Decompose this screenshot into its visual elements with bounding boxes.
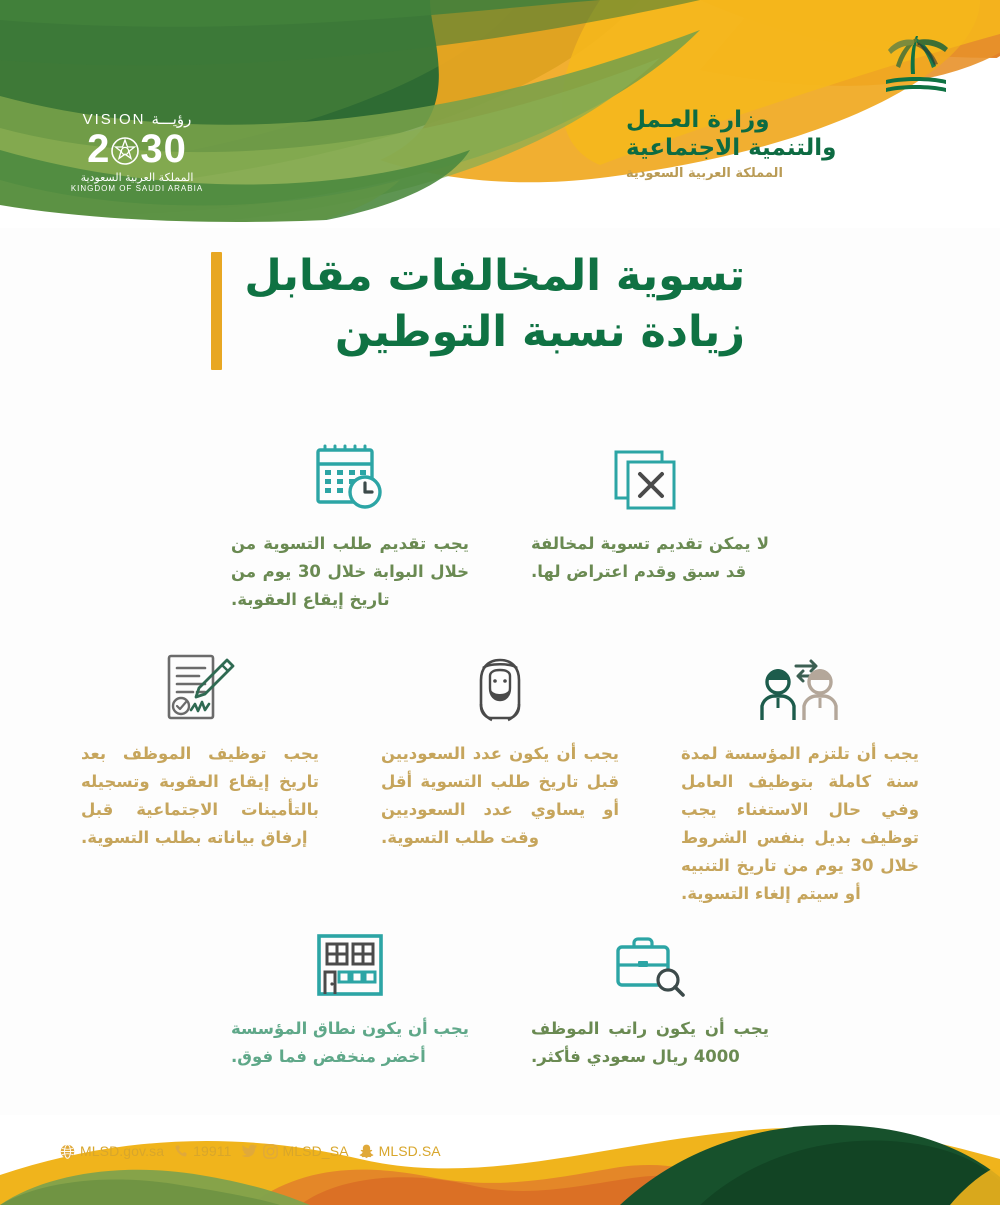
condition-item: يجب أن يكون نطاق المؤسسة أخضر منخفض فما …	[200, 925, 500, 1071]
footer-wave-graphic	[0, 1115, 1000, 1205]
vision-kingdom-en: KINGDOM OF SAUDI ARABIA	[62, 184, 212, 193]
condition-text: يجب أن تلتزم المؤسسة لمدة سنة كاملة بتوظ…	[681, 740, 919, 908]
condition-text: لا يمكن تقديم تسوية لمخالفة قد سبق وقدم …	[531, 530, 769, 586]
ministry-logo: وزارة العـمل والتنمية الاجتماعية المملكة…	[626, 28, 956, 184]
vision-year-left: 2	[87, 128, 110, 170]
condition-icon-wrap	[314, 925, 386, 997]
building-icon	[314, 933, 386, 997]
condition-text: يجب تقديم طلب التسوية من خلال البوابة خل…	[231, 530, 469, 614]
condition-text: يجب توظيف الموظف بعد تاريخ إيقاع العقوبة…	[81, 740, 319, 852]
contact-snapchat-label: MLSD.SA	[379, 1143, 441, 1159]
ministry-line-1: وزارة العـمل	[626, 106, 956, 134]
condition-item: يجب أن يكون راتب الموظف 4000 ريال سعودي …	[500, 925, 800, 1071]
condition-icon-wrap	[756, 650, 844, 722]
contact-phone-label: 19911	[193, 1143, 231, 1159]
condition-icon-wrap	[313, 440, 387, 512]
condition-text: يجب أن يكون نطاق المؤسسة أخضر منخفض فما …	[231, 1015, 469, 1071]
ministry-line-3: المملكة العربية السعودية	[626, 164, 956, 184]
twitter-icon	[242, 1144, 258, 1158]
condition-icon-wrap	[612, 925, 688, 997]
vision-word-en: VISION	[83, 111, 146, 128]
briefcase-search-icon	[612, 935, 688, 997]
condition-text: يجب أن يكون راتب الموظف 4000 ريال سعودي …	[531, 1015, 769, 1071]
page-title-line-2: زيادة نسبة التوطين	[244, 304, 745, 360]
condition-icon-wrap	[469, 650, 531, 722]
condition-item: يجب أن يكون عدد السعوديين قبل تاريخ طلب …	[350, 650, 650, 908]
page-title-line-1: تسوية المخالفات مقابل	[244, 248, 745, 304]
infographic-page: VISION رؤيـــة 2 30 المملكة العربية السع…	[0, 0, 1000, 1205]
condition-item: لا يمكن تقديم تسوية لمخالفة قد سبق وقدم …	[500, 440, 800, 614]
vision-year-right: 30	[140, 128, 187, 170]
vision-logo-top: VISION رؤيـــة	[62, 110, 212, 128]
contact-social-handles[interactable]: MLSD_SA	[242, 1143, 349, 1159]
phone-icon	[174, 1144, 188, 1158]
conditions-row-2: يجب أن تلتزم المؤسسة لمدة سنة كاملة بتوظ…	[0, 650, 1000, 908]
ministry-line-2: والتنمية الاجتماعية	[626, 134, 956, 162]
contact-snapchat[interactable]: MLSD.SA	[359, 1143, 441, 1159]
vision-word-ar: رؤيـــة	[151, 110, 191, 128]
title-accent-bar	[211, 252, 222, 370]
calendar-clock-icon	[313, 444, 387, 512]
saudi-man-icon	[469, 656, 531, 722]
condition-icon-wrap	[161, 650, 239, 722]
condition-item: يجب أن تلتزم المؤسسة لمدة سنة كاملة بتوظ…	[650, 650, 950, 908]
conditions-row-3: يجب أن يكون راتب الموظف 4000 ريال سعودي …	[0, 925, 1000, 1071]
contact-social-label: MLSD_SA	[283, 1143, 349, 1159]
condition-text: يجب أن يكون عدد السعوديين قبل تاريخ طلب …	[381, 740, 619, 852]
contact-website[interactable]: MLSD.gov.sa	[60, 1143, 164, 1159]
palm-swords-emblem-icon	[876, 28, 956, 100]
globe-icon	[60, 1144, 75, 1159]
page-title-text: تسوية المخالفات مقابل زيادة نسبة التوطين	[244, 248, 745, 370]
footer-contact-bar: MLSD.gov.sa 19911 MLSD_SA MLSD.SA	[60, 1143, 441, 1159]
saudi-emblem-icon	[110, 136, 140, 166]
header-banner: VISION رؤيـــة 2 30 المملكة العربية السع…	[0, 0, 1000, 228]
vision-2030-logo: VISION رؤيـــة 2 30 المملكة العربية السع…	[62, 110, 212, 193]
two-people-exchange-icon	[756, 656, 844, 722]
contact-website-label: MLSD.gov.sa	[80, 1143, 164, 1159]
vision-kingdom-ar: المملكة العربية السعودية	[62, 171, 212, 184]
condition-icon-wrap	[611, 440, 689, 512]
vision-year: 2 30	[62, 128, 212, 170]
condition-item: يجب تقديم طلب التسوية من خلال البوابة خل…	[200, 440, 500, 614]
contact-phone[interactable]: 19911	[174, 1143, 231, 1159]
instagram-icon	[263, 1144, 278, 1159]
conditions-row-1: لا يمكن تقديم تسوية لمخالفة قد سبق وقدم …	[0, 440, 1000, 614]
snapchat-icon	[359, 1144, 374, 1159]
page-title: تسوية المخالفات مقابل زيادة نسبة التوطين	[211, 248, 745, 370]
document-pen-icon	[161, 652, 239, 722]
condition-item: يجب توظيف الموظف بعد تاريخ إيقاع العقوبة…	[50, 650, 350, 908]
documents-x-icon	[611, 448, 689, 512]
